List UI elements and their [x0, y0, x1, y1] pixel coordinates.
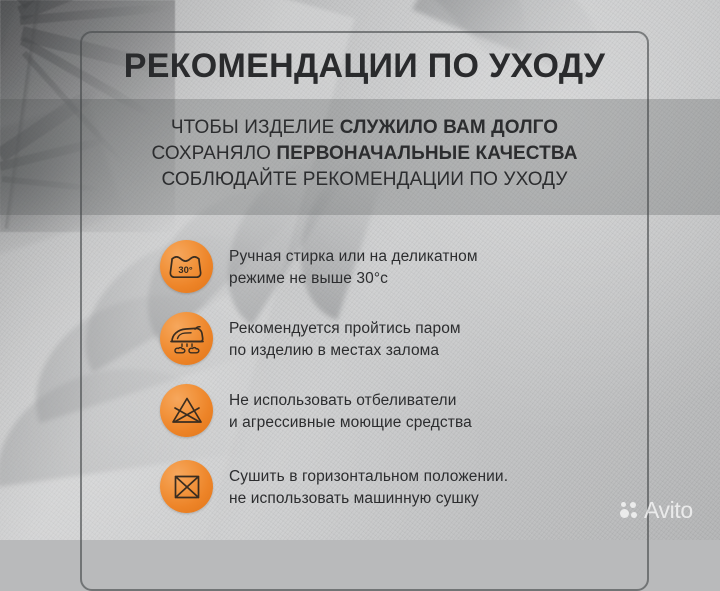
page-title: РЕКОМЕНДАЦИИ ПО УХОДУ	[80, 47, 649, 86]
care-text-steam-iron-line-2: по изделию в местах залома	[229, 340, 461, 362]
avito-watermark: Avito	[620, 497, 693, 524]
subtitle-line-2-bold: ПЕРВОНАЧАЛЬНЫЕ КАЧЕСТВА	[276, 143, 577, 164]
care-text-no-tumble-dry: Сушить в горизонтальном положении. не ис…	[229, 460, 508, 510]
content-area: РЕКОМЕНДАЦИИ ПО УХОДУ ЧТОБЫ ИЗДЕЛИЕ СЛУЖ…	[0, 0, 720, 540]
care-row-steam-iron: Рекомендуется пройтись паром по изделию …	[160, 312, 461, 365]
hand-wash-temperature-label: 30°	[178, 264, 192, 275]
care-text-hand-wash-line-2: режиме не выше 30°с	[229, 268, 478, 290]
care-text-no-bleach-line-2: и агрессивные моющие средства	[229, 412, 472, 434]
care-text-steam-iron-line-1: Рекомендуется пройтись паром	[229, 318, 461, 340]
avito-logo-icon	[620, 501, 639, 520]
avito-watermark-label: Avito	[644, 497, 693, 524]
no-tumble-dry-icon	[160, 460, 213, 513]
subtitle-line-1-bold: СЛУЖИЛО ВАМ ДОЛГО	[340, 117, 558, 138]
subtitle-line-2-plain: СОХРАНЯЛО	[151, 143, 276, 164]
care-text-no-tumble-dry-line-2: не использовать машинную сушку	[229, 488, 508, 510]
care-text-hand-wash: Ручная стирка или на деликатном режиме н…	[229, 240, 478, 290]
subtitle-line-3: СОБЛЮДАЙТЕ РЕКОМЕНДАЦИИ ПО УХОДУ	[80, 167, 649, 193]
steam-iron-icon	[160, 312, 213, 365]
care-row-no-tumble-dry: Сушить в горизонтальном положении. не ис…	[160, 460, 508, 513]
care-row-hand-wash: 30° Ручная стирка или на деликатном режи…	[160, 240, 478, 293]
hand-wash-30-icon: 30°	[160, 240, 213, 293]
care-row-no-bleach: Не использовать отбеливатели и агрессивн…	[160, 384, 472, 437]
care-text-no-tumble-dry-line-1: Сушить в горизонтальном положении.	[229, 466, 508, 488]
care-text-steam-iron: Рекомендуется пройтись паром по изделию …	[229, 312, 461, 362]
subtitle-block: ЧТОБЫ ИЗДЕЛИЕ СЛУЖИЛО ВАМ ДОЛГО СОХРАНЯЛ…	[80, 115, 649, 193]
subtitle-line-2: СОХРАНЯЛО ПЕРВОНАЧАЛЬНЫЕ КАЧЕСТВА	[80, 141, 649, 167]
no-bleach-icon	[160, 384, 213, 437]
care-text-no-bleach: Не использовать отбеливатели и агрессивн…	[229, 384, 472, 434]
subtitle-line-1: ЧТОБЫ ИЗДЕЛИЕ СЛУЖИЛО ВАМ ДОЛГО	[80, 115, 649, 141]
subtitle-line-1-plain: ЧТОБЫ ИЗДЕЛИЕ	[171, 117, 340, 138]
care-text-hand-wash-line-1: Ручная стирка или на деликатном	[229, 246, 478, 268]
care-text-no-bleach-line-1: Не использовать отбеливатели	[229, 390, 472, 412]
